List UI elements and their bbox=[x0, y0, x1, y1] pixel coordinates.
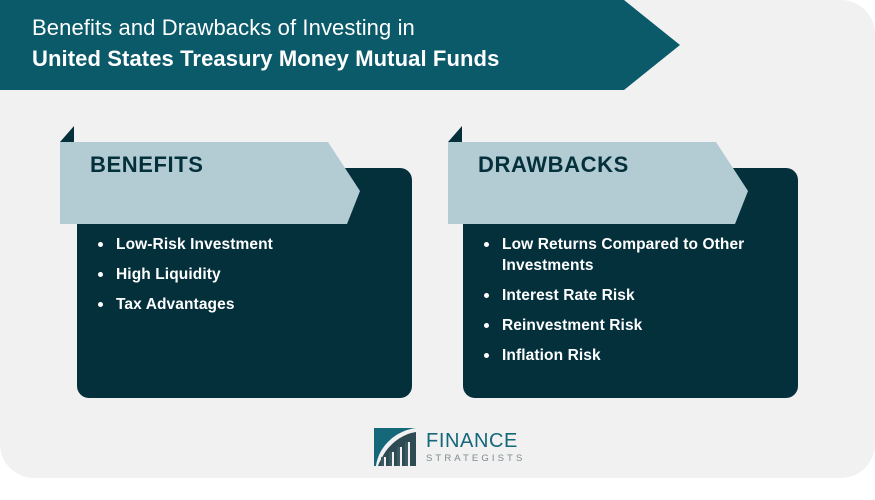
list-item: Reinvestment Risk bbox=[482, 315, 772, 336]
ribbon-fold-icon bbox=[448, 126, 462, 142]
title-line-1: Benefits and Drawbacks of Investing in bbox=[32, 12, 499, 43]
drawbacks-heading: DRAWBACKS bbox=[478, 152, 629, 178]
list-item: Interest Rate Risk bbox=[482, 285, 772, 306]
infographic-root: Benefits and Drawbacks of Investing in U… bbox=[0, 0, 875, 500]
benefits-list: Low-Risk Investment High Liquidity Tax A… bbox=[96, 234, 386, 324]
page-title: Benefits and Drawbacks of Investing in U… bbox=[32, 12, 499, 74]
list-item: Low Returns Compared to Other Investment… bbox=[482, 234, 772, 276]
finance-strategists-logo: FINANCE STRATEGISTS bbox=[372, 424, 512, 470]
list-item: Inflation Risk bbox=[482, 345, 772, 366]
header-banner: Benefits and Drawbacks of Investing in U… bbox=[0, 0, 680, 90]
ribbon-fold-icon bbox=[60, 126, 74, 142]
list-item: Tax Advantages bbox=[96, 294, 386, 315]
benefits-heading: BENEFITS bbox=[90, 152, 204, 178]
list-item: High Liquidity bbox=[96, 264, 386, 285]
logo-tagline: STRATEGISTS bbox=[426, 454, 525, 464]
title-line-2: United States Treasury Money Mutual Fund… bbox=[32, 43, 499, 74]
logo-mark-icon bbox=[372, 426, 418, 468]
drawbacks-list: Low Returns Compared to Other Investment… bbox=[482, 234, 772, 375]
logo-wordmark: FINANCE STRATEGISTS bbox=[426, 431, 525, 464]
logo-name: FINANCE bbox=[426, 431, 525, 451]
list-item: Low-Risk Investment bbox=[96, 234, 386, 255]
